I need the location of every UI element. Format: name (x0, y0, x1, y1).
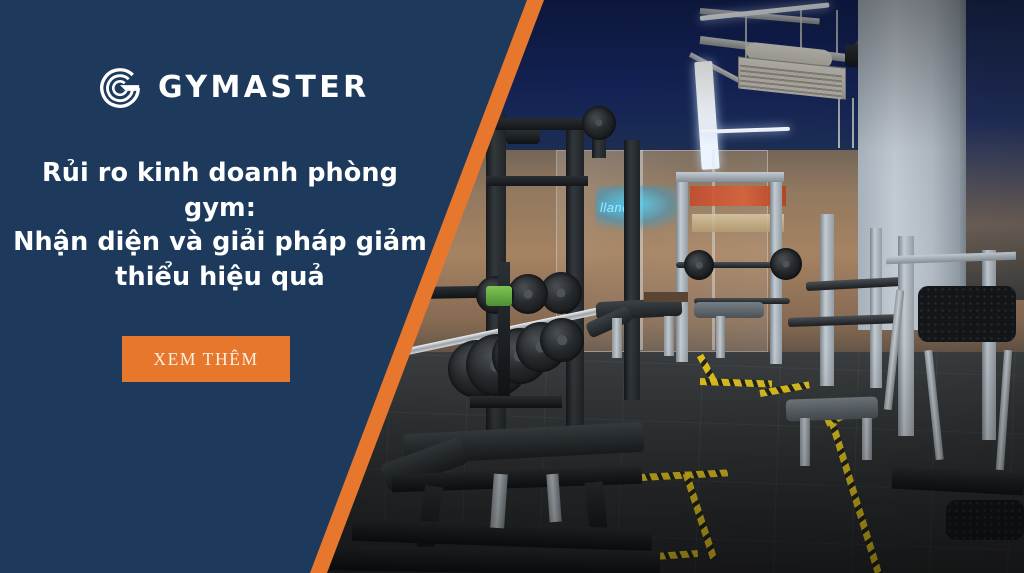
plate-tree-base (470, 396, 562, 408)
plate-tree (498, 262, 510, 402)
machine-upright (898, 236, 914, 436)
brand-name: GYMASTER (158, 73, 370, 103)
machine-footplate (946, 500, 1024, 540)
weight-plate (540, 318, 584, 362)
gymaster-g-logo-icon (96, 64, 144, 112)
machine-upright (870, 228, 882, 388)
page-title: Rủi ro kinh doanh phòng gym: Nhận diện v… (10, 156, 430, 295)
bench-leg (664, 316, 674, 356)
bench-pad (694, 302, 764, 318)
rack-crossbar (486, 176, 588, 186)
machine-seat-pad (918, 286, 1016, 342)
glass-mullion (640, 150, 643, 350)
headline-line-1: Rủi ro kinh doanh phòng gym: (42, 158, 398, 223)
hanger-rod (838, 98, 840, 148)
banner-content: GYMASTER Rủi ro kinh doanh phòng gym: Nh… (0, 0, 440, 573)
hanger-rod (836, 10, 838, 54)
weight-plate (770, 248, 802, 280)
hanger-rod (852, 98, 854, 148)
rack-hook (506, 130, 540, 144)
read-more-button[interactable]: XEM THÊM (122, 336, 290, 382)
rack-crossbar (486, 118, 588, 130)
bench-leg (862, 418, 872, 460)
bench-leg (716, 316, 725, 358)
weight-plate (508, 274, 548, 314)
rack-crossbar (676, 172, 784, 182)
weight-plate (684, 250, 714, 280)
brand-logo[interactable]: GYMASTER (96, 64, 370, 112)
promo-banner: llandia (0, 0, 1024, 573)
headline-line-2: Nhận diện và giải pháp giảm (13, 227, 427, 257)
bucket (486, 286, 512, 306)
far-bench (644, 292, 688, 302)
weight-plate (582, 106, 616, 140)
rack-upright (624, 140, 640, 400)
bench-leg (612, 318, 622, 358)
headline-line-3: thiểu hiệu quả (115, 262, 325, 292)
machine-upright (820, 214, 834, 386)
bench-leg (800, 418, 810, 466)
machine-upright (982, 250, 996, 440)
